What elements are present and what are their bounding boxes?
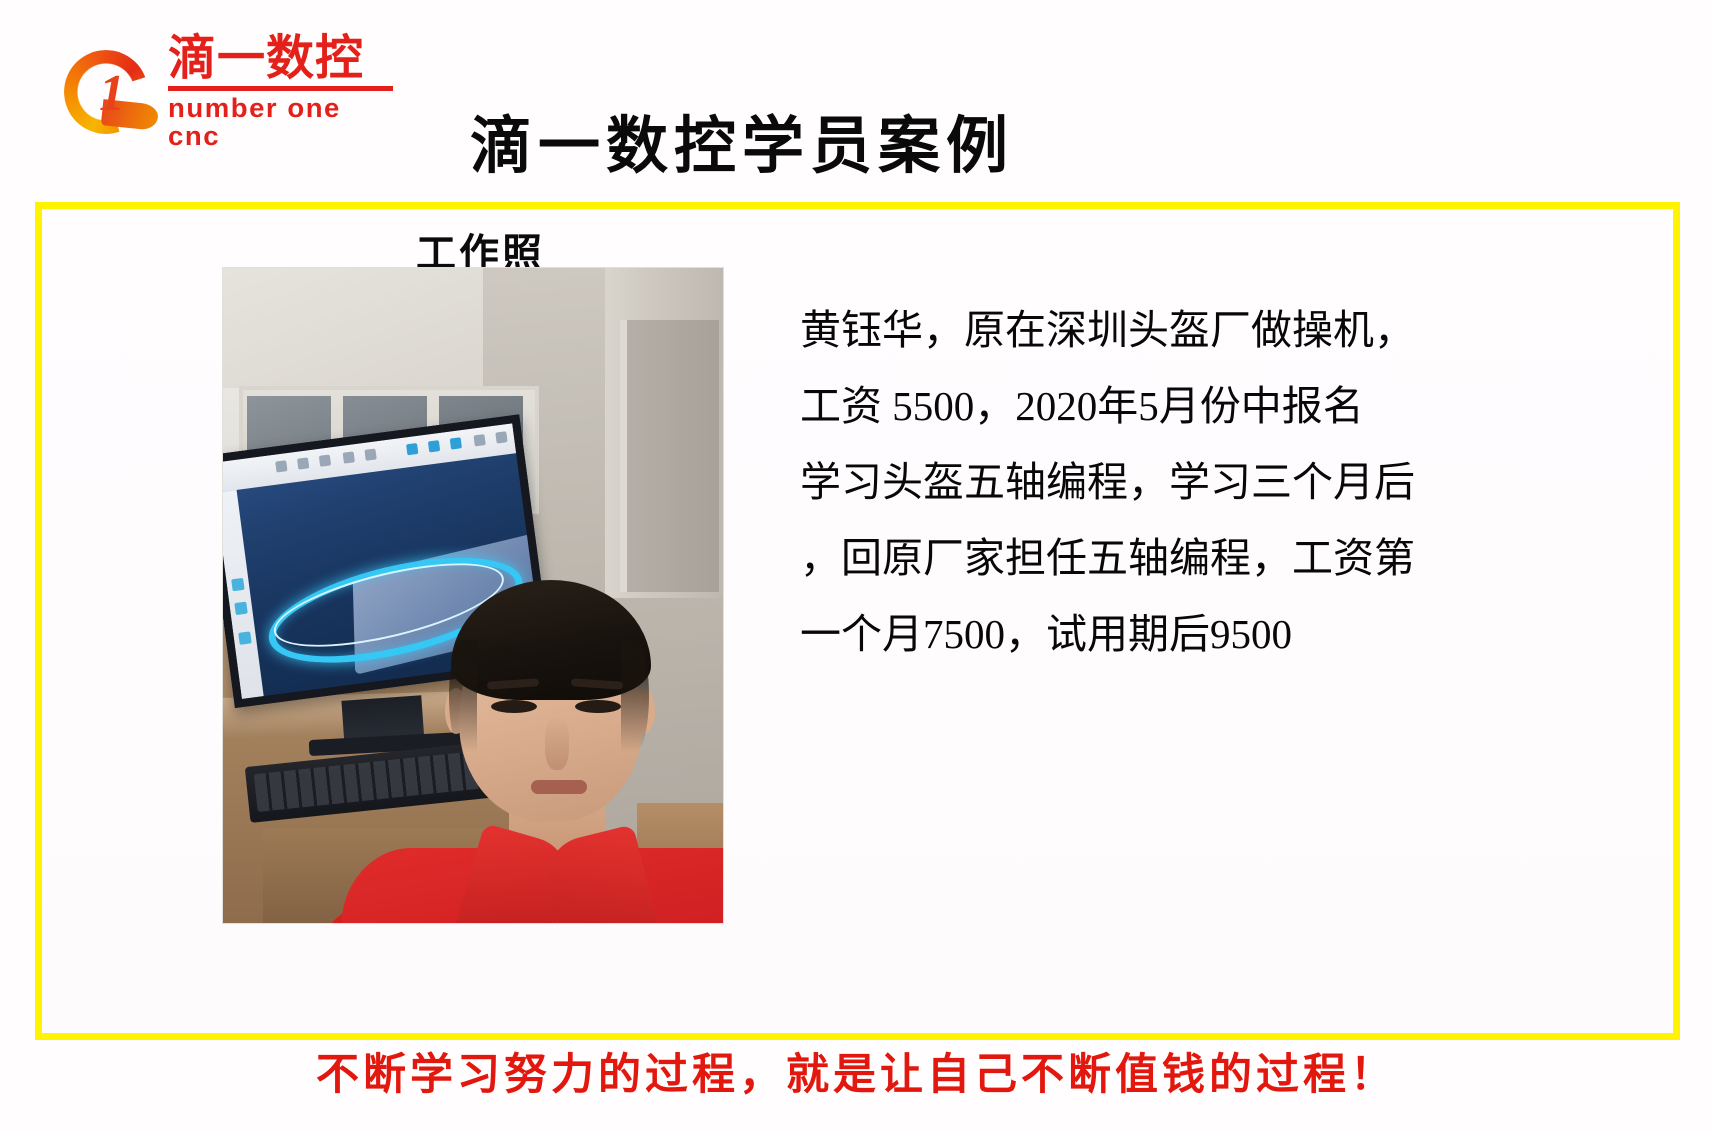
toolbar-icon-3: [238, 631, 251, 644]
ribbon-icon-7: [428, 440, 440, 452]
ribbon-icon-2: [297, 457, 309, 469]
logo-wordmark: 滴一数控 number one cnc: [168, 34, 393, 150]
toolbar-icon-1: [231, 578, 244, 591]
student-work-photo: [223, 268, 723, 923]
photo-person-hair-right: [621, 640, 649, 752]
logo-numeral: 1: [95, 68, 129, 120]
photo-person-nose: [545, 716, 569, 770]
story-line: 学习头盔五轴编程，学习三个月后: [800, 444, 1520, 520]
toolbar-icon-2: [234, 602, 247, 615]
photo-person-eye-right: [575, 700, 621, 713]
student-story-text: 黄钰华，原在深圳头盔厂做操机， 工资 5500，2020年5月份中报名 学习头盔…: [800, 292, 1520, 672]
ribbon-icon-3: [319, 454, 331, 466]
cam-software-toolbar: [223, 490, 264, 699]
footer-slogan: 不断学习努力的过程，就是让自己不断值钱的过程！: [0, 1050, 1713, 1102]
photo-person-eye-left: [491, 700, 537, 713]
logo-chinese-name: 滴一数控: [168, 34, 393, 84]
photo-person-hair-left: [449, 640, 477, 752]
story-line: 黄钰华，原在深圳头盔厂做操机，: [800, 292, 1520, 368]
story-line: 一个月7500，试用期后9500: [800, 596, 1520, 672]
brand-logo: 1 滴一数控 number one cnc: [62, 42, 392, 142]
ribbon-icon-8: [450, 437, 462, 449]
ribbon-icon-1: [275, 460, 287, 472]
ribbon-icon-4: [343, 451, 355, 463]
photo-door-panel: [620, 320, 719, 592]
story-line: ，回原厂家担任五轴编程，工资第: [800, 520, 1520, 596]
story-line: 工资 5500，2020年5月份中报名: [800, 368, 1520, 444]
ribbon-icon-10: [495, 431, 507, 443]
ribbon-icon-6: [406, 443, 418, 455]
logo-emblem-icon: 1: [62, 46, 158, 138]
photo-person-mouth: [531, 780, 587, 794]
logo-divider: [168, 86, 393, 91]
ribbon-icon-5: [364, 448, 376, 460]
logo-english-name: number one cnc: [168, 94, 398, 150]
page-title: 滴一数控学员案例: [470, 110, 1090, 184]
ribbon-icon-9: [473, 434, 485, 446]
